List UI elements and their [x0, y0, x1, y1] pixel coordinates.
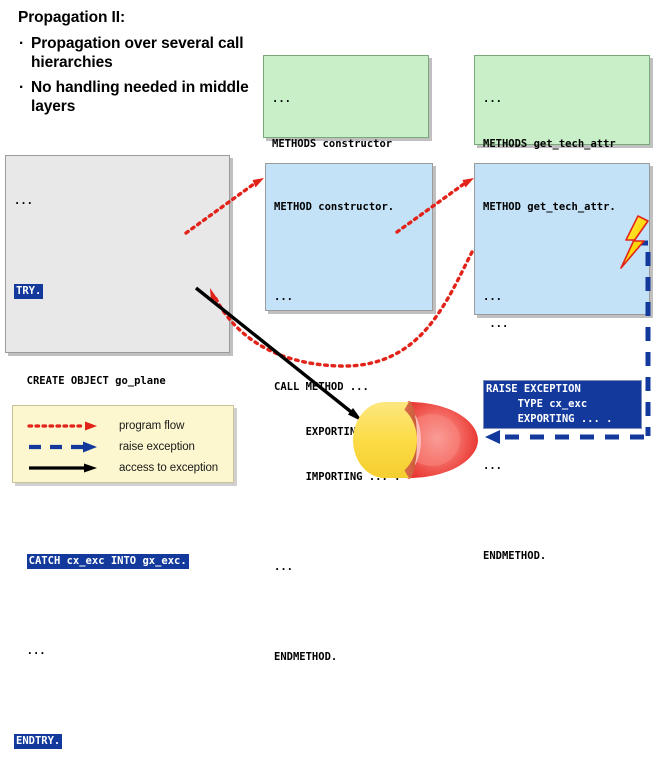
code-box-method-get-tech-attr: METHOD get_tech_attr. ... RAISE EXCEPTIO… [474, 163, 650, 315]
code-line-catch: CATCH cx_exc INTO gx_exc. [14, 554, 222, 569]
code-line: IMPORTING ... . [274, 470, 425, 485]
code-line-spacer [274, 515, 425, 530]
code-line: EXPORTING ... [274, 425, 425, 440]
code-line: CALL METHOD ... [274, 380, 425, 395]
indent [14, 555, 27, 567]
dashed-blue-arrow-icon [27, 440, 105, 454]
code-line: ENDMETHOD. [274, 650, 425, 665]
dotted-red-arrow-icon [27, 419, 105, 433]
code-line: EXPORTING ... . [486, 412, 639, 427]
slide-canvas: Propagation II: · Propagation over sever… [0, 0, 661, 497]
code-line: METHODS get_tech_attr [483, 137, 642, 152]
legend-item-raise-exception: raise exception [13, 436, 233, 457]
highlight-raise-exception-block: RAISE EXCEPTION TYPE cx_exc EXPORTING ..… [483, 380, 642, 429]
code-line-spacer [274, 605, 425, 620]
code-line: ... [14, 194, 222, 209]
code-box-method-constructor: METHOD constructor. ... CALL METHOD ... … [265, 163, 433, 311]
highlight-catch-cx-exc: CATCH cx_exc INTO gx_exc. [27, 554, 189, 569]
code-line-spacer [14, 329, 222, 344]
code-line: ... [274, 560, 425, 575]
code-line: METHOD constructor. [274, 200, 425, 215]
page-title: Propagation II: [18, 8, 258, 28]
bullet-text: No handling needed in middle layers [31, 78, 258, 116]
bullet-text: Propagation over several call hierarchie… [31, 34, 258, 72]
bullet-item-2: · No handling needed in middle layers [18, 78, 258, 116]
bullet-marker: · [18, 78, 31, 97]
code-box-methods-constructor: ... METHODS constructor IMPORTING ... RA… [263, 55, 429, 138]
code-line-spacer [274, 335, 425, 350]
highlight-try: TRY. [14, 284, 43, 299]
legend-box: program flow raise exception access to e… [12, 405, 234, 483]
code-line-spacer [483, 335, 642, 350]
code-line: ENDMETHOD. [483, 549, 642, 564]
code-line: ... [483, 459, 642, 474]
code-line-spacer [483, 245, 642, 260]
code-line-endtry: ENDTRY. [14, 734, 222, 749]
bullet-marker: · [18, 34, 31, 53]
code-line-spacer [14, 599, 222, 614]
highlight-endtry: ENDTRY. [14, 734, 62, 749]
code-box-try-endtry: ... TRY. CREATE OBJECT go_plane EXPORTIN… [5, 155, 230, 353]
code-line: METHOD get_tech_attr. [483, 200, 642, 215]
title-block: Propagation II: · Propagation over sever… [18, 8, 258, 122]
code-line: ... [483, 92, 642, 107]
solid-black-arrow-icon [27, 461, 105, 475]
code-line: ... [14, 644, 222, 659]
code-line: ... [272, 92, 421, 107]
code-line: METHODS constructor [272, 137, 421, 152]
legend-label: program flow [105, 420, 184, 432]
legend-item-program-flow: program flow [13, 415, 233, 436]
legend-label: access to exception [105, 462, 218, 474]
code-line-try: TRY. [14, 284, 222, 299]
code-line-spacer [14, 239, 222, 254]
code-box-methods-get-tech-attr: ... METHODS get_tech_attr IMPORTING ... … [474, 55, 650, 145]
code-line-spacer [14, 509, 222, 524]
code-line: RAISE EXCEPTION [486, 382, 639, 397]
code-line-spacer [483, 504, 642, 519]
code-line: ... [483, 290, 642, 305]
legend-item-access-to-exception: access to exception [13, 457, 233, 478]
bullet-item-1: · Propagation over several call hierarch… [18, 34, 258, 72]
code-line-spacer [274, 245, 425, 260]
legend-label: raise exception [105, 441, 195, 453]
code-line: ... [274, 290, 425, 305]
code-line: TYPE cx_exc [486, 397, 639, 412]
code-line-spacer [14, 689, 222, 704]
code-line: CREATE OBJECT go_plane [14, 374, 222, 389]
